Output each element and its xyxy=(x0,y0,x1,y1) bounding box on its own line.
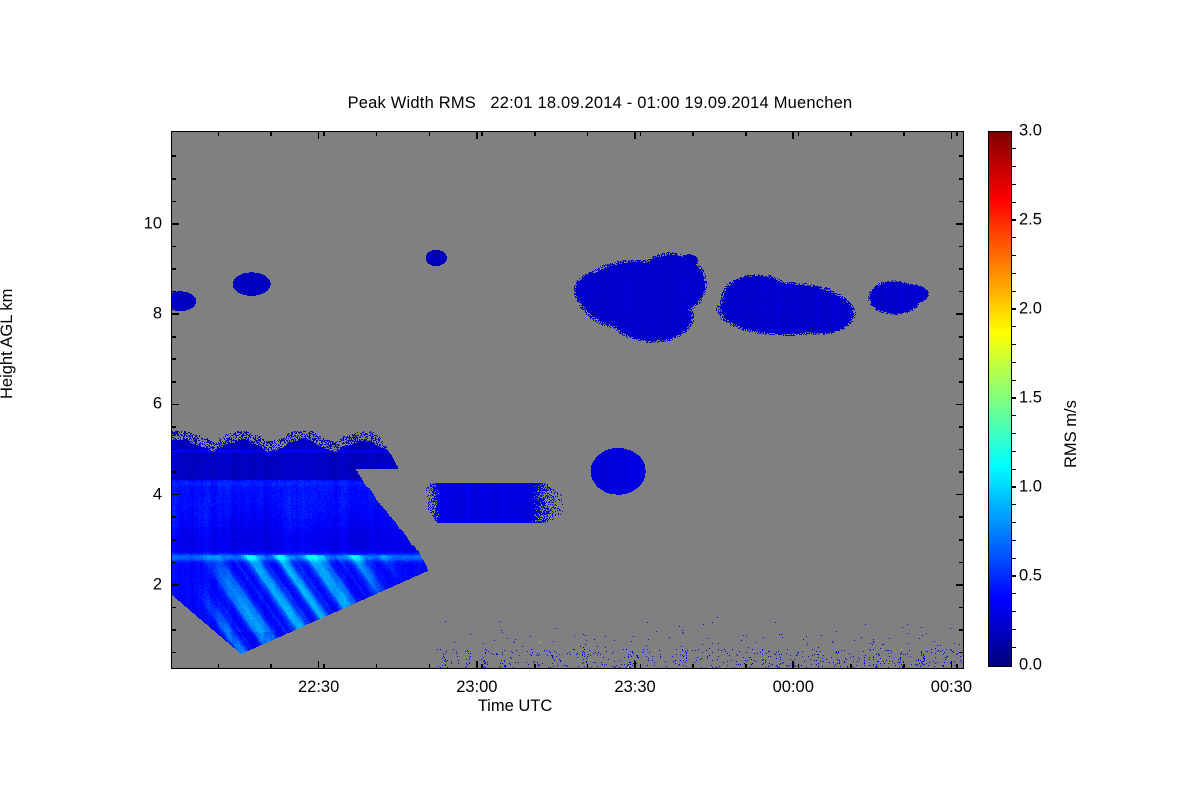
y-minor-tick xyxy=(172,539,176,541)
y-minor-tick-right xyxy=(959,562,963,564)
y-minor-tick-right xyxy=(959,607,963,609)
x-minor-tick-top xyxy=(429,132,431,136)
x-minor-tick-top xyxy=(903,132,905,136)
y-tick-label: 4 xyxy=(153,485,162,504)
y-tick-label: 6 xyxy=(153,395,162,414)
y-minor-tick xyxy=(172,516,176,518)
x-minor-tick-top xyxy=(640,132,642,136)
x-minor-tick xyxy=(850,664,852,668)
y-minor-tick-right xyxy=(959,336,963,338)
x-tick-top xyxy=(951,132,953,139)
y-tick xyxy=(172,313,179,315)
x-tick-label: 22:30 xyxy=(298,678,339,697)
x-tick-top xyxy=(634,132,636,139)
x-minor-tick-top xyxy=(218,132,220,136)
y-minor-tick xyxy=(172,201,176,203)
colorbar-tick-label: 0.0 xyxy=(1019,656,1042,675)
colorbar-tick-label: 1.5 xyxy=(1019,389,1042,408)
x-tick xyxy=(634,661,636,668)
x-minor-tick xyxy=(218,664,220,668)
y-minor-tick-right xyxy=(959,178,963,180)
colorbar-minor-tick xyxy=(1011,504,1016,505)
colorbar-tick-label: 0.5 xyxy=(1019,567,1042,586)
x-tick-top xyxy=(792,132,794,139)
y-minor-tick xyxy=(172,652,176,654)
y-minor-tick xyxy=(172,358,176,360)
colorbar-minor-tick xyxy=(1011,540,1016,541)
y-minor-tick-right xyxy=(959,516,963,518)
y-minor-tick-right xyxy=(959,471,963,473)
colorbar-minor-tick xyxy=(1011,611,1016,612)
colorbar-minor-tick xyxy=(1011,344,1016,345)
y-tick-label: 2 xyxy=(153,575,162,594)
y-minor-tick-right xyxy=(959,268,963,270)
x-minor-tick-top xyxy=(481,132,483,136)
y-tick xyxy=(172,494,179,496)
y-minor-tick-right xyxy=(959,539,963,541)
colorbar xyxy=(988,131,1012,667)
x-tick xyxy=(951,661,953,668)
y-minor-tick-right xyxy=(959,449,963,451)
y-minor-tick xyxy=(172,562,176,564)
x-minor-tick xyxy=(376,664,378,668)
colorbar-minor-tick xyxy=(1011,629,1016,630)
colorbar-tick-label: 2.0 xyxy=(1019,300,1042,319)
y-minor-tick xyxy=(172,178,176,180)
x-minor-tick xyxy=(587,664,589,668)
x-minor-tick xyxy=(640,664,642,668)
x-tick-label: 23:30 xyxy=(614,678,655,697)
x-minor-tick-top xyxy=(534,132,536,136)
colorbar-minor-tick xyxy=(1011,237,1016,238)
colorbar-minor-tick xyxy=(1011,451,1016,452)
y-minor-tick xyxy=(172,155,176,157)
x-minor-tick-top xyxy=(270,132,272,136)
colorbar-minor-tick xyxy=(1011,486,1016,487)
x-tick-top xyxy=(318,132,320,139)
y-tick-right xyxy=(956,584,963,586)
figure-canvas: Peak Width RMS 22:01 18.09.2014 - 01:00 … xyxy=(0,0,1200,800)
y-minor-tick xyxy=(172,246,176,248)
y-minor-tick-right xyxy=(959,291,963,293)
colorbar-minor-tick xyxy=(1011,575,1016,576)
colorbar-minor-tick xyxy=(1011,397,1016,398)
x-minor-tick xyxy=(798,664,800,668)
x-tick xyxy=(792,661,794,668)
colorbar-minor-tick xyxy=(1011,326,1016,327)
colorbar-minor-tick xyxy=(1011,308,1016,309)
x-minor-tick-top xyxy=(587,132,589,136)
y-minor-tick xyxy=(172,629,176,631)
x-minor-tick-top xyxy=(692,132,694,136)
y-axis-title: Height AGL km xyxy=(0,289,17,399)
y-tick-right xyxy=(956,404,963,406)
x-minor-tick-top xyxy=(798,132,800,136)
x-tick-top xyxy=(476,132,478,139)
colorbar-minor-tick xyxy=(1011,362,1016,363)
y-minor-tick xyxy=(172,426,176,428)
y-tick-label: 8 xyxy=(153,305,162,324)
y-minor-tick xyxy=(172,607,176,609)
colorbar-title: RMS m/s xyxy=(1062,400,1081,468)
y-minor-tick xyxy=(172,336,176,338)
colorbar-minor-tick xyxy=(1011,148,1016,149)
colorbar-minor-tick xyxy=(1011,380,1016,381)
chart-title: Peak Width RMS 22:01 18.09.2014 - 01:00 … xyxy=(0,94,1200,113)
x-tick-label: 00:30 xyxy=(931,678,972,697)
y-minor-tick-right xyxy=(959,246,963,248)
colorbar-minor-tick xyxy=(1011,273,1016,274)
colorbar-minor-tick xyxy=(1011,291,1016,292)
colorbar-minor-tick xyxy=(1011,469,1016,470)
colorbar-minor-tick xyxy=(1011,522,1016,523)
y-minor-tick xyxy=(172,471,176,473)
y-minor-tick xyxy=(172,449,176,451)
y-tick-right xyxy=(956,313,963,315)
x-minor-tick-top xyxy=(323,132,325,136)
x-tick xyxy=(476,661,478,668)
x-minor-tick xyxy=(534,664,536,668)
y-minor-tick-right xyxy=(959,426,963,428)
x-minor-tick xyxy=(429,664,431,668)
y-minor-tick-right xyxy=(959,652,963,654)
colorbar-minor-tick xyxy=(1011,593,1016,594)
y-tick xyxy=(172,584,179,586)
y-minor-tick-right xyxy=(959,381,963,383)
x-minor-tick xyxy=(270,664,272,668)
y-minor-tick-right xyxy=(959,629,963,631)
x-minor-tick xyxy=(323,664,325,668)
y-minor-tick xyxy=(172,381,176,383)
x-minor-tick-top xyxy=(956,132,958,136)
colorbar-tick-label: 1.0 xyxy=(1019,478,1042,497)
colorbar-minor-tick xyxy=(1011,415,1016,416)
colorbar-minor-tick xyxy=(1011,558,1016,559)
y-tick xyxy=(172,223,179,225)
colorbar-minor-tick xyxy=(1011,647,1016,648)
x-minor-tick-top xyxy=(850,132,852,136)
colorbar-gradient xyxy=(989,132,1011,666)
y-minor-tick xyxy=(172,268,176,270)
x-tick-label: 23:00 xyxy=(456,678,497,697)
x-tick xyxy=(318,661,320,668)
x-minor-tick xyxy=(745,664,747,668)
colorbar-minor-tick xyxy=(1011,184,1016,185)
colorbar-minor-tick xyxy=(1011,202,1016,203)
y-minor-tick-right xyxy=(959,201,963,203)
x-tick-label: 00:00 xyxy=(773,678,814,697)
colorbar-minor-tick xyxy=(1011,219,1016,220)
x-minor-tick xyxy=(692,664,694,668)
x-minor-tick-top xyxy=(376,132,378,136)
y-tick-right xyxy=(956,223,963,225)
heatmap-image xyxy=(172,132,963,668)
x-minor-tick xyxy=(481,664,483,668)
y-minor-tick-right xyxy=(959,358,963,360)
y-tick xyxy=(172,404,179,406)
colorbar-minor-tick xyxy=(1011,255,1016,256)
y-minor-tick-right xyxy=(959,155,963,157)
x-minor-tick-top xyxy=(745,132,747,136)
y-tick-right xyxy=(956,494,963,496)
x-minor-tick xyxy=(903,664,905,668)
x-minor-tick xyxy=(956,664,958,668)
y-tick-label: 10 xyxy=(144,214,162,233)
colorbar-tick-label: 2.5 xyxy=(1019,211,1042,230)
heatmap-plot-area xyxy=(171,131,964,669)
x-axis-title: Time UTC xyxy=(0,697,1030,716)
y-minor-tick xyxy=(172,291,176,293)
colorbar-minor-tick xyxy=(1011,166,1016,167)
colorbar-minor-tick xyxy=(1011,433,1016,434)
colorbar-tick-label: 3.0 xyxy=(1019,122,1042,141)
